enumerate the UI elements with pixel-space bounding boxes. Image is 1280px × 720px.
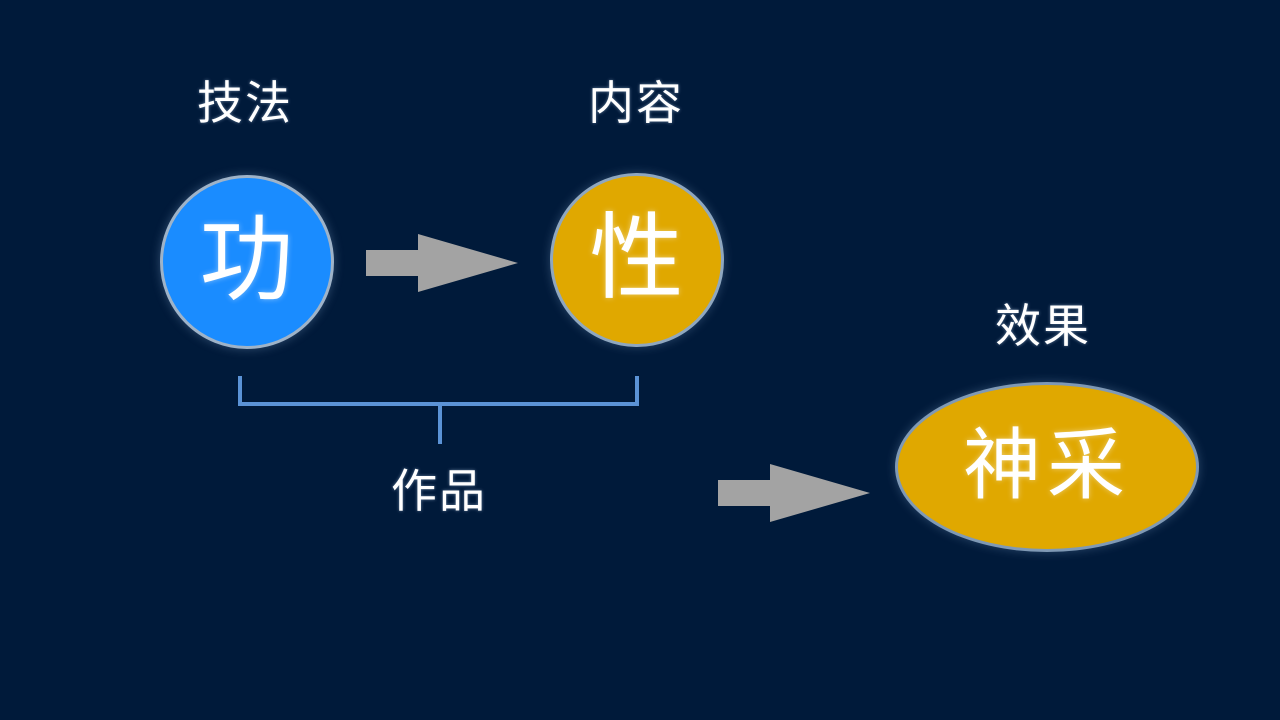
caption-xiaoguo: 效果 [995, 303, 1091, 349]
diagram-canvas: 技法 内容 效果 功 性 神采 作品 [0, 0, 1280, 720]
node-gong-circle[interactable]: 功 [160, 175, 334, 349]
node-xing-glyph: 性 [589, 211, 684, 305]
arrow-zuopin-to-shencai [718, 462, 878, 524]
node-xing-circle[interactable]: 性 [550, 173, 724, 347]
node-shencai-glyph: 神采 [963, 426, 1131, 504]
caption-jifa: 技法 [197, 80, 293, 126]
node-gong-glyph: 功 [199, 213, 294, 307]
caption-neirong: 内容 [588, 80, 684, 126]
node-shencai-ellipse[interactable]: 神采 [895, 382, 1199, 552]
group-label-zuopin: 作品 [391, 468, 487, 514]
arrow-gong-to-xing [366, 232, 526, 294]
group-bracket [230, 370, 650, 450]
